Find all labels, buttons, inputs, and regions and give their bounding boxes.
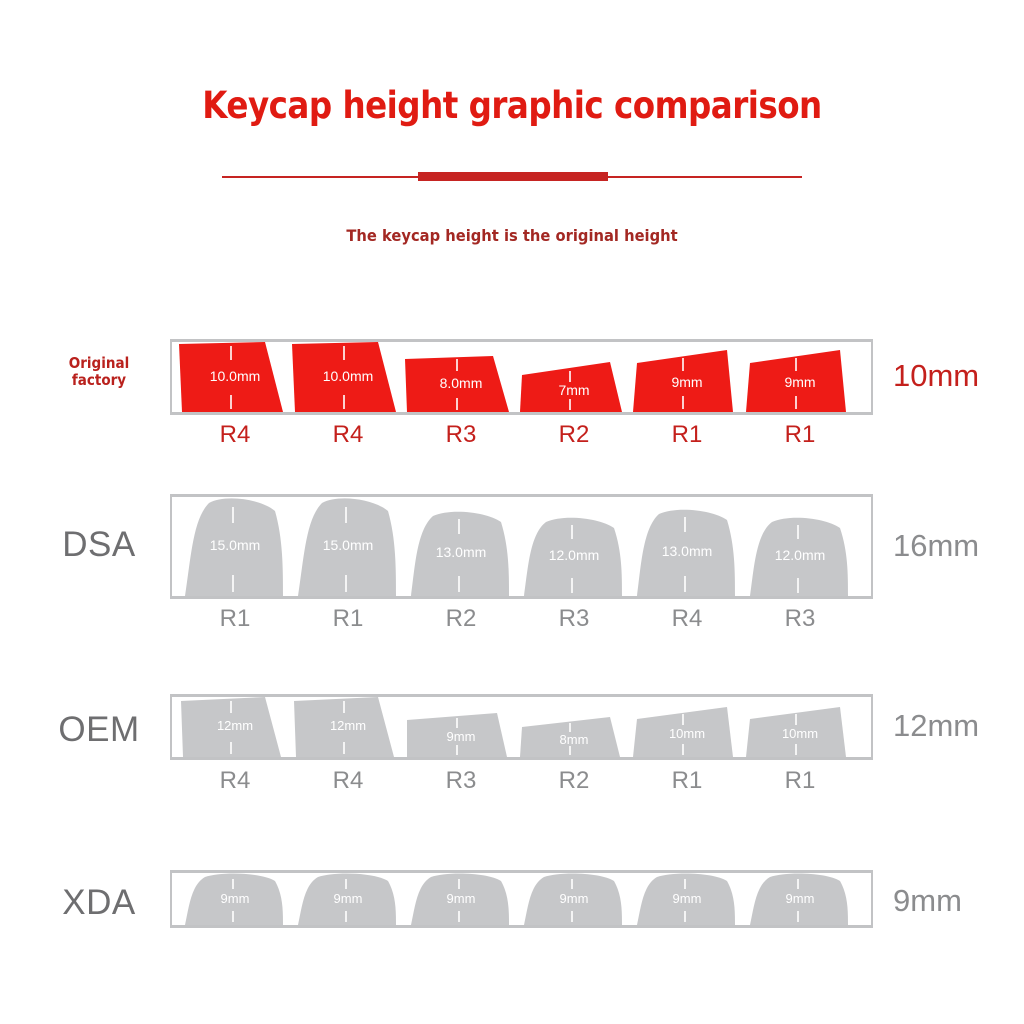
- scale-label-original-factory: 10mm: [893, 358, 979, 394]
- profile-label: R3: [405, 767, 517, 795]
- keycap[interactable]: 12mm: [292, 697, 404, 757]
- profile-label: R2: [518, 421, 630, 449]
- frame-bottom-rail: [170, 925, 873, 928]
- row-frame-original-factory: 10.0mm 10.0mm 8.0mm: [170, 339, 873, 415]
- divider-thick-rule: [418, 172, 608, 181]
- row-label-line1: XDA: [40, 883, 158, 922]
- keycap[interactable]: 9mm: [179, 873, 291, 925]
- profile-label: R1: [292, 605, 404, 633]
- profile-label: R4: [179, 767, 291, 795]
- profile-label: R1: [744, 421, 856, 449]
- keycap[interactable]: 8.0mm: [405, 356, 517, 412]
- row-label-line2: factory: [46, 372, 152, 389]
- keycap[interactable]: 9mm: [292, 873, 404, 925]
- profile-label: R1: [744, 767, 856, 795]
- keycap[interactable]: 12mm: [179, 697, 291, 757]
- profile-labels-oem: R4 R4 R3 R2 R1 R1: [170, 767, 873, 797]
- row-frame-xda: 9mm 9mm 9mm: [170, 870, 873, 928]
- keycap[interactable]: 8mm: [518, 717, 630, 757]
- frame-bottom-rail: [170, 412, 873, 415]
- row-frame-oem: 12mm 12mm 9mm: [170, 694, 873, 760]
- keycap[interactable]: 9mm: [631, 350, 743, 412]
- frame-bottom-rail: [170, 596, 873, 599]
- keycap[interactable]: 7mm: [518, 362, 630, 412]
- profile-labels-dsa: R1 R1 R2 R3 R4 R3: [170, 605, 873, 635]
- scale-label-oem: 12mm: [893, 708, 979, 744]
- row-dsa: DSA 15.0mm 15.: [0, 490, 1024, 640]
- keycap[interactable]: 13.0mm: [631, 508, 743, 596]
- keycap[interactable]: 10mm: [631, 707, 743, 757]
- profile-label: R3: [518, 605, 630, 633]
- keycap[interactable]: 9mm: [744, 350, 856, 412]
- page-subtitle: The keycap height is the original height: [41, 226, 983, 245]
- row-oem: OEM 12mm 12mm: [0, 690, 1024, 820]
- header: Keycap height graphic comparison The key…: [0, 0, 1024, 280]
- row-label-original-factory: Original factory: [46, 355, 152, 389]
- title-divider: [222, 175, 802, 178]
- keycap[interactable]: 13.0mm: [405, 510, 517, 596]
- keycap-group-dsa: 15.0mm 15.0mm 13.0mm: [170, 497, 873, 596]
- row-label-line1: DSA: [40, 525, 158, 564]
- keycap[interactable]: 15.0mm: [179, 497, 291, 596]
- row-label-line1: OEM: [40, 710, 158, 749]
- profile-label: R3: [405, 421, 517, 449]
- keycap[interactable]: 9mm: [405, 713, 517, 757]
- row-xda: XDA 9mm 9mm: [0, 866, 1024, 956]
- scale-label-dsa: 16mm: [893, 528, 979, 564]
- profile-label: R1: [179, 605, 291, 633]
- keycap[interactable]: 10.0mm: [179, 342, 291, 412]
- keycap[interactable]: 12.0mm: [518, 516, 630, 596]
- profile-label: R1: [631, 767, 743, 795]
- keycap-group-original-factory: 10.0mm 10.0mm 8.0mm: [170, 342, 873, 412]
- profile-label: R2: [518, 767, 630, 795]
- profile-label: R4: [179, 421, 291, 449]
- keycap[interactable]: 15.0mm: [292, 497, 404, 596]
- profile-label: R4: [631, 605, 743, 633]
- keycap[interactable]: 9mm: [405, 873, 517, 925]
- frame-bottom-rail: [170, 757, 873, 760]
- keycap[interactable]: 9mm: [744, 873, 856, 925]
- profile-labels-original-factory: R4 R4 R3 R2 R1 R1: [170, 421, 873, 451]
- row-frame-dsa: 15.0mm 15.0mm 13.0mm: [170, 494, 873, 599]
- row-label-oem: OEM: [40, 710, 158, 749]
- keycap[interactable]: 12.0mm: [744, 516, 856, 596]
- page-title: Keycap height graphic comparison: [61, 86, 962, 127]
- keycap-group-xda: 9mm 9mm 9mm: [170, 873, 873, 925]
- keycap[interactable]: 9mm: [518, 873, 630, 925]
- row-label-dsa: DSA: [40, 525, 158, 564]
- keycap[interactable]: 9mm: [631, 873, 743, 925]
- keycap[interactable]: 10mm: [744, 707, 856, 757]
- profile-label: R3: [744, 605, 856, 633]
- profile-label: R4: [292, 767, 404, 795]
- row-label-line1: Original: [46, 355, 152, 372]
- keycap[interactable]: 10.0mm: [292, 342, 404, 412]
- scale-label-xda: 9mm: [893, 883, 962, 919]
- profile-label: R2: [405, 605, 517, 633]
- profile-label: R1: [631, 421, 743, 449]
- keycap-group-oem: 12mm 12mm 9mm: [170, 697, 873, 757]
- profile-label: R4: [292, 421, 404, 449]
- row-label-xda: XDA: [40, 883, 158, 922]
- row-original-factory: Original factory 10.0mm: [0, 335, 1024, 465]
